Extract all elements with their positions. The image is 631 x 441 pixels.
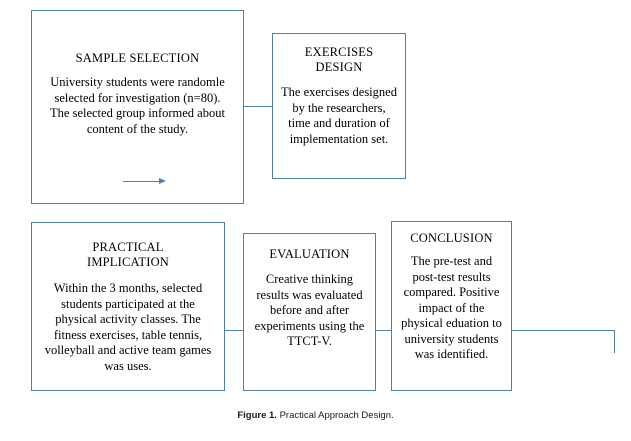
- box-body-conclusion: The pre-test and post-test results compa…: [392, 254, 511, 363]
- box-title-evaluation: EVALUATION: [269, 247, 349, 262]
- connector-conclusion-outflow-vertical: [614, 330, 615, 353]
- box-title-exercises-design: EXERCISES DESIGN: [305, 45, 373, 75]
- connector-evaluation-to-conclusion: [376, 330, 391, 331]
- flowchart-box-evaluation: EVALUATION Creative thinking results was…: [243, 233, 376, 391]
- box-body-evaluation: Creative thinking results was evaluated …: [244, 272, 375, 350]
- box-title-practical-implication: PRACTICAL IMPLICATION: [87, 240, 169, 270]
- connector-conclusion-outflow-horizontal: [512, 330, 615, 331]
- box-title-sample-selection: SAMPLE SELECTION: [76, 51, 200, 66]
- box-title-conclusion: CONCLUSION: [410, 231, 493, 246]
- flowchart-box-exercises-design: EXERCISES DESIGN The exercises designed …: [272, 33, 406, 179]
- connector-practical-to-evaluation: [225, 330, 243, 331]
- figure-caption-label: Figure 1.: [237, 410, 277, 421]
- arrow-shaft: [123, 181, 161, 182]
- flowchart-box-sample-selection: SAMPLE SELECTION University students wer…: [31, 10, 244, 204]
- box-body-sample-selection: University students were randomle select…: [32, 75, 243, 137]
- figure-canvas: SAMPLE SELECTION University students wer…: [0, 0, 631, 441]
- figure-caption: Figure 1. Practical Approach Design.: [0, 410, 631, 421]
- figure-caption-text: Practical Approach Design.: [277, 410, 394, 421]
- arrow-head: [159, 178, 166, 184]
- box-body-practical-implication: Within the 3 months, selected students p…: [32, 281, 224, 374]
- connector-sample-to-exercises: [244, 106, 272, 107]
- box-body-exercises-design: The exercises designed by the researcher…: [273, 85, 405, 147]
- sample-inner-arrow-icon: [123, 177, 167, 186]
- flowchart-box-practical-implication: PRACTICAL IMPLICATION Within the 3 month…: [31, 222, 225, 391]
- flowchart-box-conclusion: CONCLUSION The pre-test and post-test re…: [391, 221, 512, 391]
